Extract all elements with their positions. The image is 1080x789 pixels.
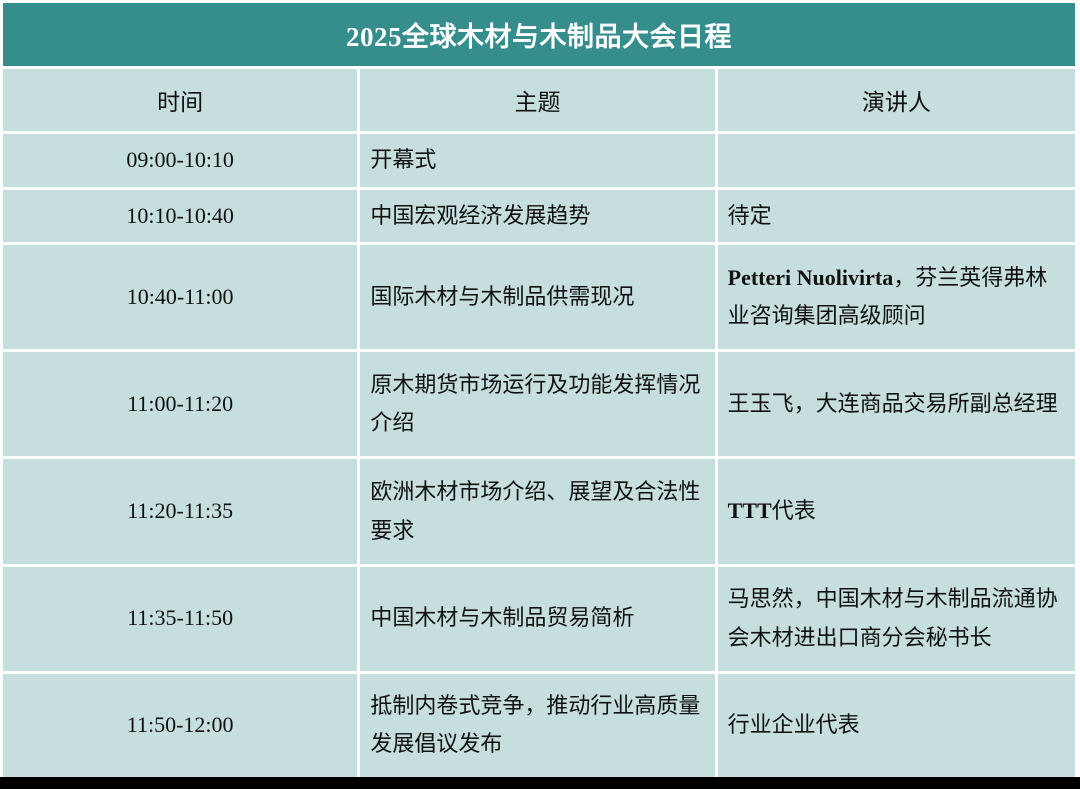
conference-schedule-table: 2025全球木材与木制品大会日程 时间 主题 演讲人 09:00-10:10 开… — [3, 3, 1075, 777]
table-row: 09:00-10:10 开幕式 — [3, 134, 1075, 190]
cell-topic: 开幕式 — [360, 134, 717, 190]
table-row: 11:00-11:20 原木期货市场运行及功能发挥情况介绍 王玉飞，大连商品交易… — [3, 352, 1075, 459]
cell-topic: 原木期货市场运行及功能发挥情况介绍 — [360, 352, 717, 459]
cell-speaker: TTT代表 — [718, 459, 1075, 566]
cell-time: 11:00-11:20 — [3, 352, 360, 459]
cell-topic: 抵制内卷式竞争，推动行业高质量发展倡议发布 — [360, 674, 717, 777]
cell-speaker: 待定 — [718, 190, 1075, 246]
cell-time: 11:50-12:00 — [3, 674, 360, 777]
speaker-name: Petteri Nuolivirta — [728, 265, 894, 290]
table-row: 11:35-11:50 中国木材与木制品贸易简析 马思然，中国木材与木制品流通协… — [3, 567, 1075, 674]
speaker-name: TTT — [728, 498, 772, 523]
table-row: 10:10-10:40 中国宏观经济发展趋势 待定 — [3, 190, 1075, 246]
table-header-row: 时间 主题 演讲人 — [3, 69, 1075, 134]
column-header-time: 时间 — [3, 69, 360, 134]
table-title-row: 2025全球木材与木制品大会日程 — [3, 3, 1075, 69]
cell-time: 11:20-11:35 — [3, 459, 360, 566]
cell-speaker: 行业企业代表 — [718, 674, 1075, 777]
page-title: 2025全球木材与木制品大会日程 — [3, 3, 1075, 69]
cell-time: 10:10-10:40 — [3, 190, 360, 246]
table-row: 11:20-11:35 欧洲木材市场介绍、展望及合法性要求 TTT代表 — [3, 459, 1075, 566]
table-row: 10:40-11:00 国际木材与木制品供需现况 Petteri Nuolivi… — [3, 245, 1075, 352]
bottom-black-bar — [0, 777, 1080, 789]
schedule-table-container: 2025全球木材与木制品大会日程 时间 主题 演讲人 09:00-10:10 开… — [3, 3, 1075, 777]
schedule-page: 2025全球木材与木制品大会日程 时间 主题 演讲人 09:00-10:10 开… — [0, 0, 1080, 789]
cell-topic: 中国宏观经济发展趋势 — [360, 190, 717, 246]
cell-speaker: 马思然，中国木材与木制品流通协会木材进出口商分会秘书长 — [718, 567, 1075, 674]
speaker-affiliation: 代表 — [772, 498, 816, 523]
column-header-topic: 主题 — [360, 69, 717, 134]
cell-time: 09:00-10:10 — [3, 134, 360, 190]
cell-topic: 中国木材与木制品贸易简析 — [360, 567, 717, 674]
cell-speaker: Petteri Nuolivirta，芬兰英得弗林业咨询集团高级顾问 — [718, 245, 1075, 352]
cell-time: 10:40-11:00 — [3, 245, 360, 352]
cell-speaker — [718, 134, 1075, 190]
table-row: 11:50-12:00 抵制内卷式竞争，推动行业高质量发展倡议发布 行业企业代表 — [3, 674, 1075, 777]
column-header-speaker: 演讲人 — [718, 69, 1075, 134]
cell-topic: 欧洲木材市场介绍、展望及合法性要求 — [360, 459, 717, 566]
cell-speaker: 王玉飞，大连商品交易所副总经理 — [718, 352, 1075, 459]
cell-time: 11:35-11:50 — [3, 567, 360, 674]
cell-topic: 国际木材与木制品供需现况 — [360, 245, 717, 352]
